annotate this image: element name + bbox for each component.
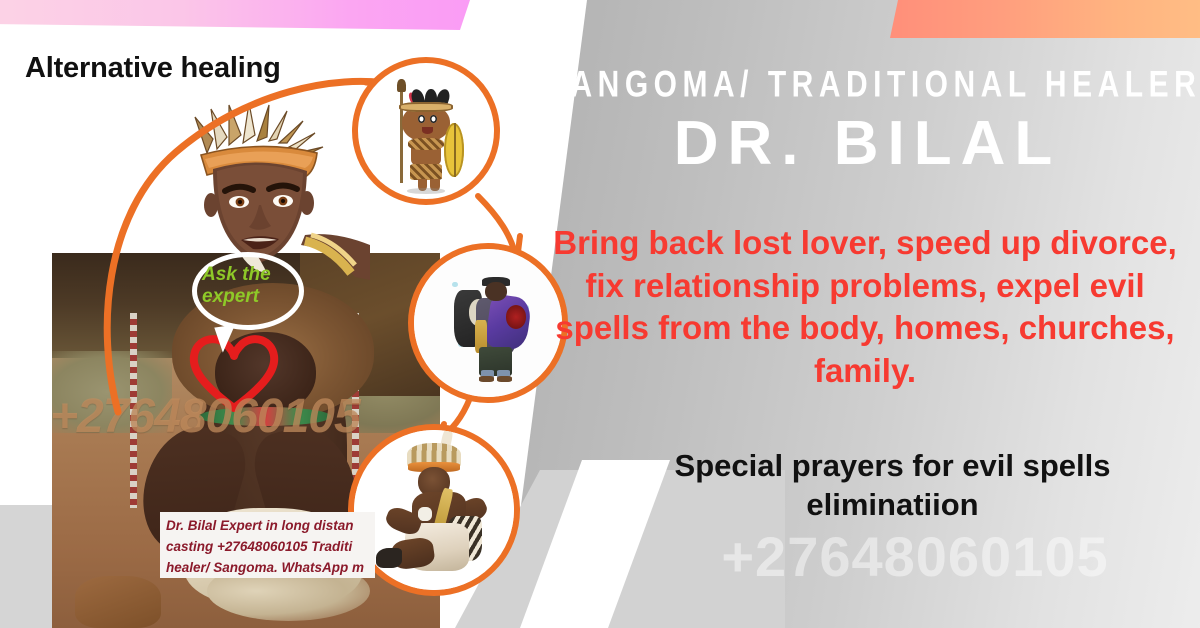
photo-clay-pot <box>75 576 160 628</box>
warrior-fur-collar <box>408 138 443 150</box>
warrior-headband <box>399 102 453 112</box>
warrior-eye-right <box>430 115 437 123</box>
cloaked-head <box>485 282 507 301</box>
warrior-skirt <box>410 164 443 180</box>
photo-caption-box: Dr. Bilal Expert in long distan casting … <box>160 512 375 578</box>
services-paragraph: Bring back lost lover, speed up divorce,… <box>540 222 1190 392</box>
headline-kicker: SANGOMA/ TRADITIONAL HEALER <box>545 65 1190 106</box>
ask-the-expert-bubble: Ask the expert <box>192 252 304 330</box>
eyebrow-heading: Alternative healing <box>25 52 281 85</box>
top-pink-bar <box>0 0 470 30</box>
warrior-eye-left <box>418 115 425 123</box>
prayers-paragraph: Special prayers for evil spells eliminat… <box>600 446 1185 525</box>
dancer-tail-ornament <box>376 548 402 567</box>
warrior-shield-spine <box>454 123 456 177</box>
cloaked-shoe-left <box>479 376 494 382</box>
top-orange-bar <box>890 0 1200 38</box>
bubble-label: Ask the expert <box>202 264 294 308</box>
healer-name-title: DR. BILAL <box>545 108 1190 179</box>
poster-canvas: Alternative healing +27648060105 <box>0 0 1200 628</box>
caption-line-2: casting +27648060105 Traditi <box>166 537 369 558</box>
thumb-cartoon-warrior[interactable] <box>352 57 500 205</box>
caption-line-1: Dr. Bilal Expert in long distan <box>166 516 369 537</box>
warrior-spear-shaft <box>400 85 403 183</box>
warrior-mouth <box>422 127 433 134</box>
warrior-shield <box>444 123 464 177</box>
caption-line-3: healer/ Sangoma. WhatsApp m <box>166 558 369 578</box>
warrior-shadow <box>407 188 445 193</box>
warrior-spear-tip <box>397 79 405 91</box>
phone-number-watermark: +27648060105 <box>640 524 1190 589</box>
cloaked-shoe-right <box>497 376 512 382</box>
